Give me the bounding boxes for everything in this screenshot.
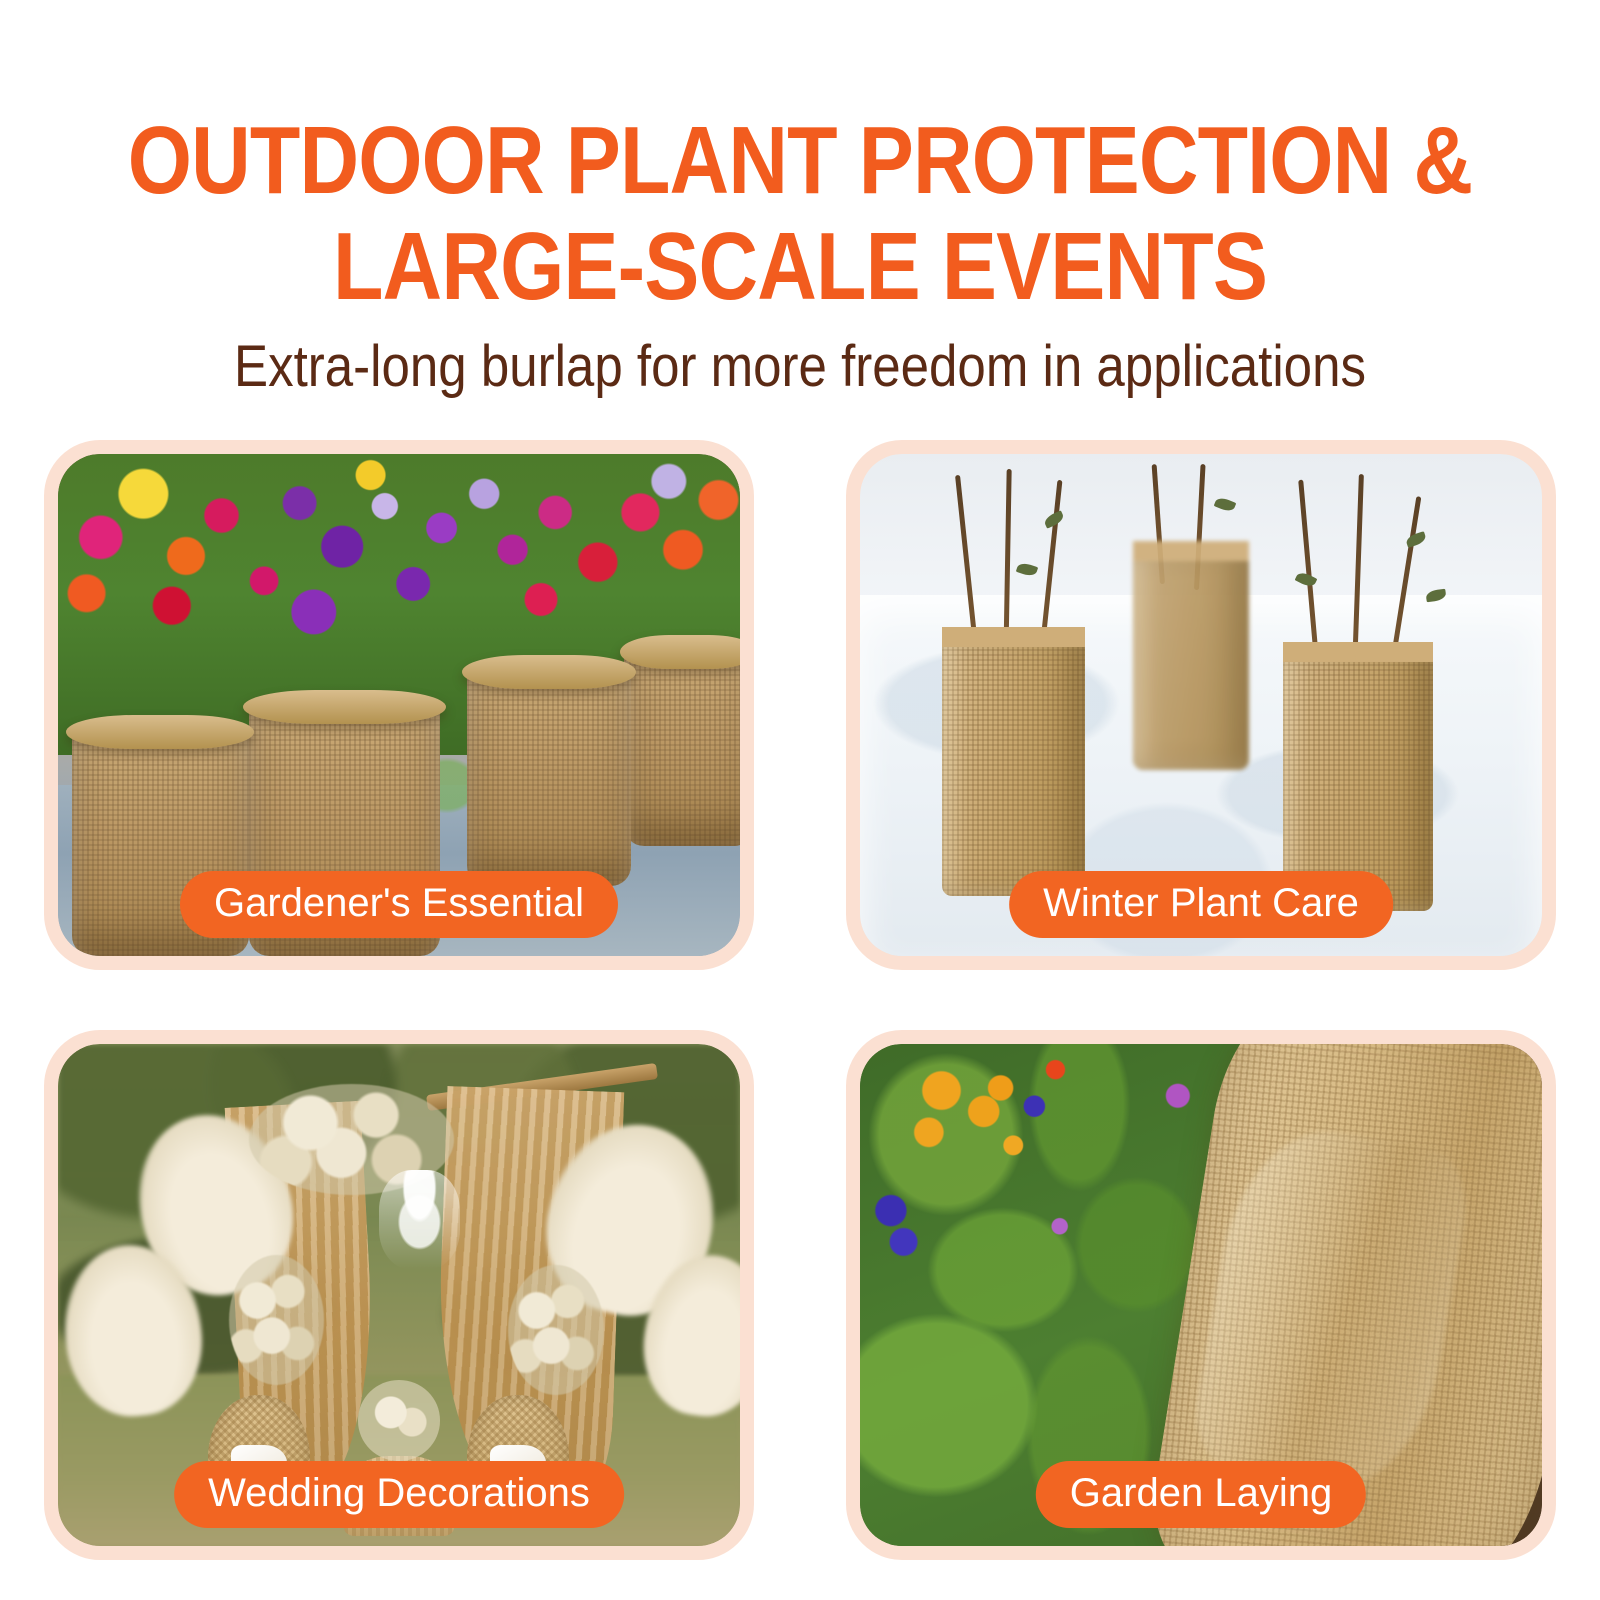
feature-panel-grid: Gardener's Essential [44,440,1556,1560]
panel-label-garden-laying: Garden Laying [1036,1461,1366,1528]
page-title-line-2: LARGE-SCALE EVENTS [112,214,1488,320]
marketing-infographic: OUTDOOR PLANT PROTECTION & LARGE-SCALE E… [0,0,1600,1600]
floral-arrangement [508,1265,603,1396]
panel-wedding-decorations[interactable]: Wedding Decorations [44,1030,754,1560]
panel-garden-laying[interactable]: Garden Laying [846,1030,1556,1560]
burlap-tree-wrap [1133,549,1249,770]
table-bouquet [358,1380,440,1460]
floral-arrangement [229,1255,324,1386]
burlap-tree-wrap [942,635,1085,896]
crystal-chandelier [379,1170,461,1270]
sapling-leaf [1213,496,1236,514]
sapling-leaf [1016,562,1038,579]
burlap-sack [624,645,740,846]
panel-gardeners-essential[interactable]: Gardener's Essential [44,440,754,970]
panel-winter-plant-care[interactable]: Winter Plant Care [846,440,1556,970]
panel-label-winter-plant-care: Winter Plant Care [1009,871,1393,938]
burlap-sack [467,665,631,886]
sapling-leaf [1404,531,1426,548]
header: OUTDOOR PLANT PROTECTION & LARGE-SCALE E… [0,0,1600,398]
page-title-line-1: OUTDOOR PLANT PROTECTION & [112,108,1488,214]
panel-label-gardeners-essential: Gardener's Essential [180,871,618,938]
page-subtitle: Extra-long burlap for more freedom in ap… [96,336,1504,398]
panel-label-wedding-decorations: Wedding Decorations [174,1461,624,1528]
sapling-leaf [1295,571,1318,590]
